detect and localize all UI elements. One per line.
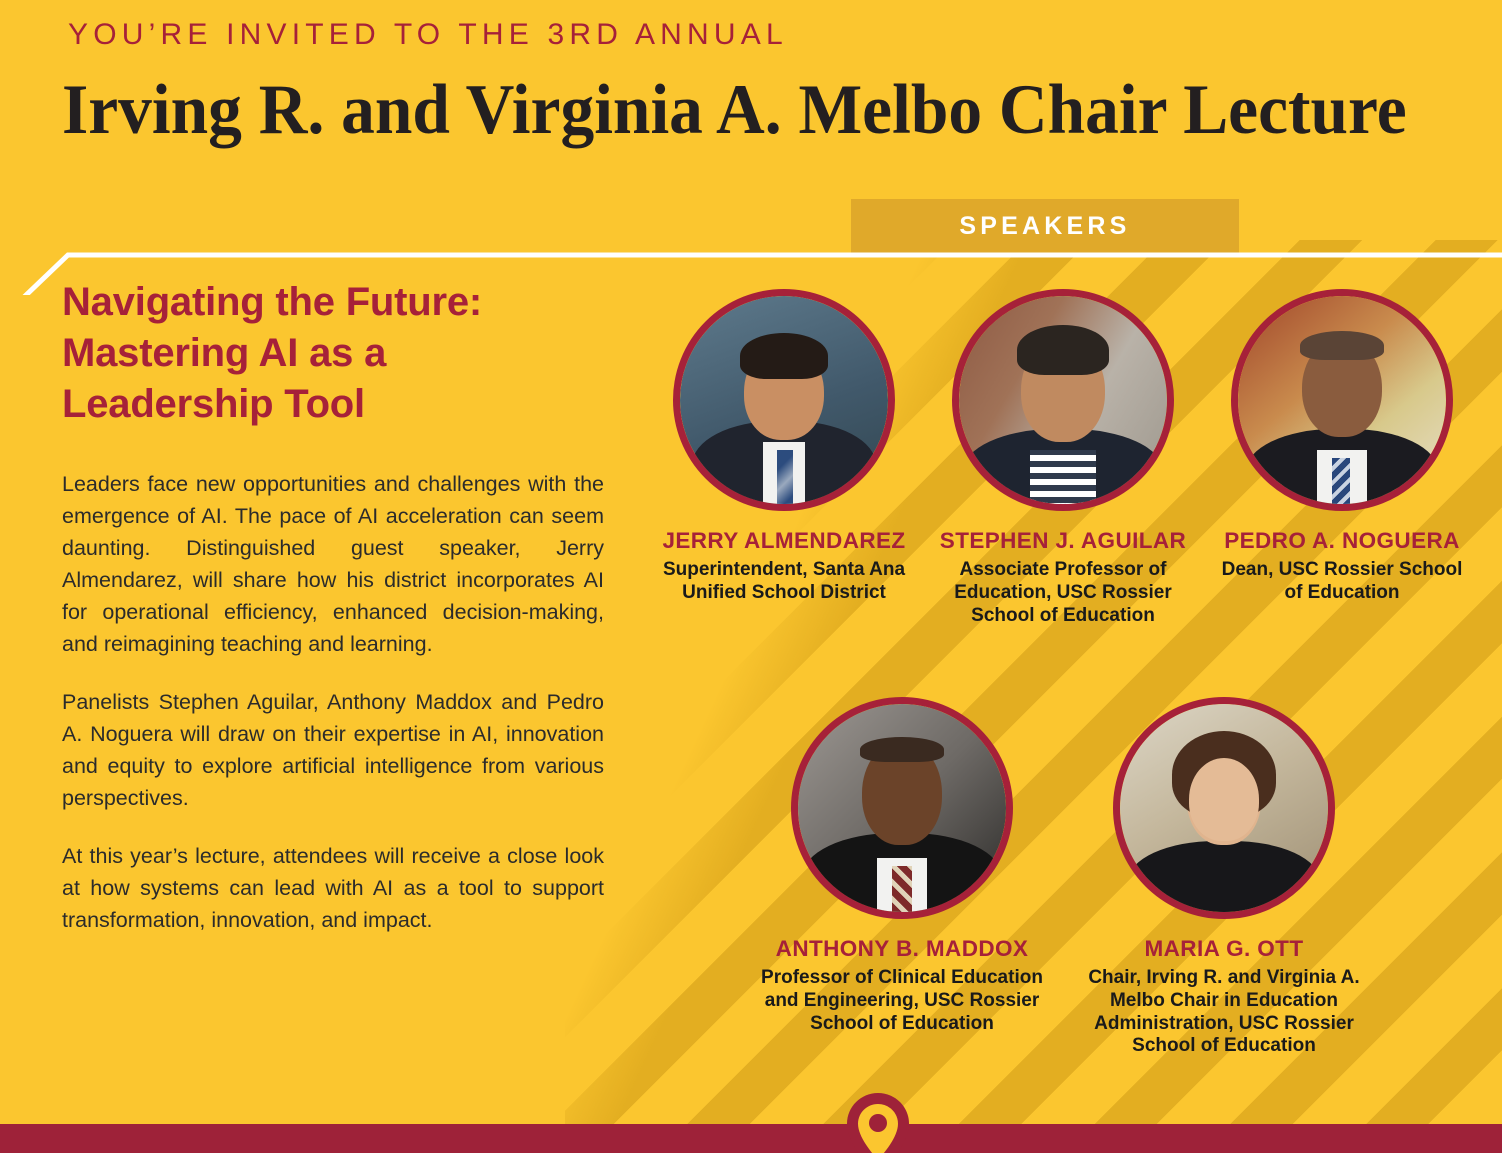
speaker-card-stephen-aguilar: STEPHEN J. AGUILAR Associate Professor o… xyxy=(932,289,1194,627)
speaker-name: JERRY ALMENDAREZ xyxy=(653,527,915,554)
description-paragraph-2: Panelists Stephen Aguilar, Anthony Maddo… xyxy=(62,686,604,814)
description-paragraph-1: Leaders face new opportunities and chall… xyxy=(62,468,604,660)
speaker-role: Associate Professor of Education, USC Ro… xyxy=(932,559,1194,627)
lecture-title: Navigating the Future: Mastering AI as a… xyxy=(62,277,602,431)
speaker-name: PEDRO A. NOGUERA xyxy=(1211,527,1473,554)
speaker-portrait-maria-ott xyxy=(1113,697,1335,919)
speaker-card-pedro-noguera: PEDRO A. NOGUERA Dean, USC Rossier Schoo… xyxy=(1211,289,1473,605)
lecture-description: Leaders face new opportunities and chall… xyxy=(62,468,604,936)
speaker-name: MARIA G. OTT xyxy=(1074,935,1374,962)
speaker-photo xyxy=(1238,296,1446,504)
invitation-kicker: YOU’RE INVITED TO THE 3RD ANNUAL xyxy=(68,18,788,52)
speaker-role: Professor of Clinical Education and Engi… xyxy=(752,967,1052,1035)
speaker-card-jerry-almendarez: JERRY ALMENDAREZ Superintendent, Santa A… xyxy=(653,289,915,605)
speaker-portrait-pedro-noguera xyxy=(1231,289,1453,511)
speaker-portrait-anthony-maddox xyxy=(791,697,1013,919)
footer-bar xyxy=(0,1124,1502,1153)
speaker-name: ANTHONY B. MADDOX xyxy=(752,935,1052,962)
speaker-photo xyxy=(798,704,1006,912)
speaker-portrait-jerry-almendarez xyxy=(673,289,895,511)
speaker-role: Superintendent, Santa Ana Unified School… xyxy=(653,559,915,605)
poster-canvas: YOU’RE INVITED TO THE 3RD ANNUAL Irving … xyxy=(0,0,1502,1153)
location-pin-icon xyxy=(845,1093,911,1153)
speaker-role: Dean, USC Rossier School of Education xyxy=(1211,559,1473,605)
speaker-photo xyxy=(959,296,1167,504)
speaker-portrait-stephen-aguilar xyxy=(952,289,1174,511)
speaker-photo xyxy=(1120,704,1328,912)
description-paragraph-3: At this year’s lecture, attendees will r… xyxy=(62,840,604,936)
speaker-card-maria-ott: MARIA G. OTT Chair, Irving R. and Virgin… xyxy=(1074,697,1374,1058)
speaker-photo xyxy=(680,296,888,504)
speaker-card-anthony-maddox: ANTHONY B. MADDOX Professor of Clinical … xyxy=(752,697,1052,1035)
speaker-role: Chair, Irving R. and Virginia A. Melbo C… xyxy=(1074,967,1374,1058)
speaker-name: STEPHEN J. AGUILAR xyxy=(932,527,1194,554)
page-title: Irving R. and Virginia A. Melbo Chair Le… xyxy=(62,74,1407,146)
